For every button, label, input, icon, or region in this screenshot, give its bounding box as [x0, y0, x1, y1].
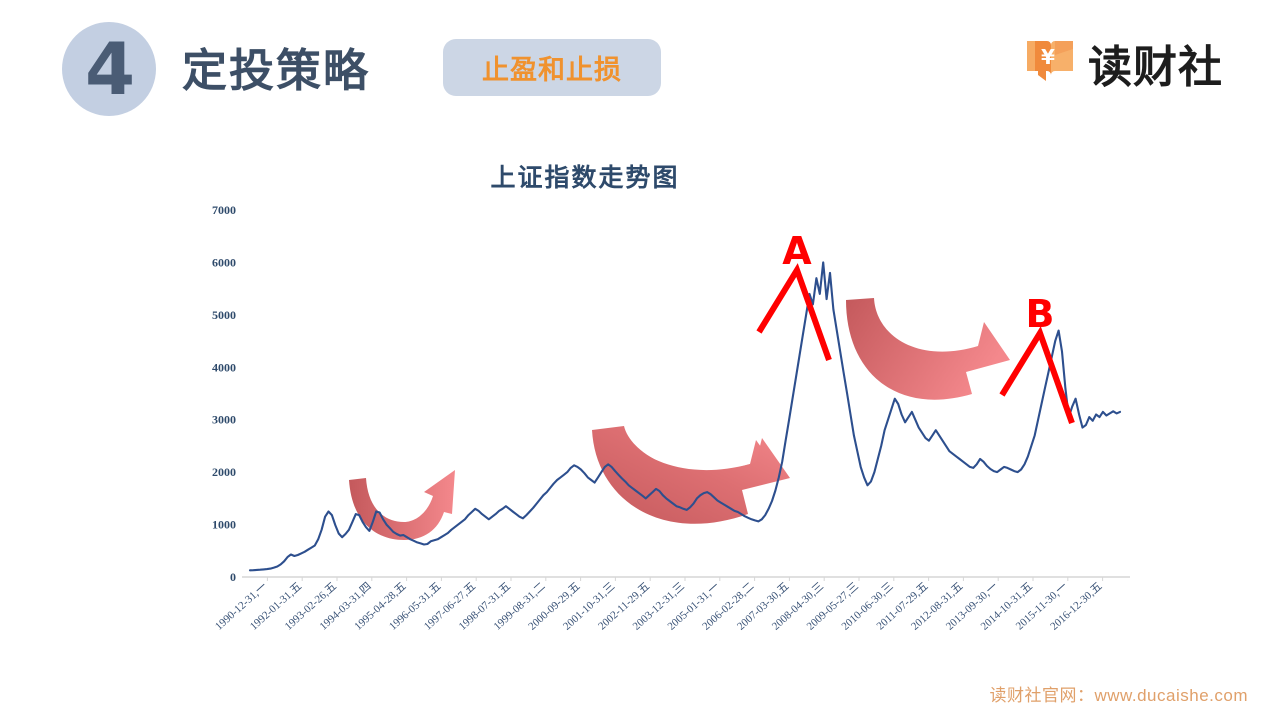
y-axis-tick: 3000	[212, 413, 236, 427]
site-footer: 读财社官网：www.ducaishe.com	[989, 681, 1248, 706]
arrow-large-center	[592, 426, 790, 524]
y-axis-tick: 5000	[212, 308, 236, 322]
stock-index-line-chart: 01000200030004000500060007000 1990-12-31…	[0, 140, 1280, 640]
peak-marker-a: A	[759, 229, 829, 360]
y-axis-tick: 6000	[212, 255, 236, 269]
book-yen-icon: ¥	[1022, 33, 1078, 89]
slide-header: 4 定投策略 止盈和止损 ¥ 读财社	[0, 0, 1280, 130]
svg-text:¥: ¥	[1041, 45, 1055, 69]
brand-logo: ¥ 读财社	[1022, 33, 1252, 91]
subtitle-pill-label: 止盈和止损	[482, 48, 622, 87]
subtitle-pill: 止盈和止损	[443, 39, 661, 96]
chart-title: 上证指数走势图	[490, 158, 679, 194]
section-number: 4	[85, 33, 133, 105]
y-axis-tick: 4000	[212, 360, 236, 374]
arrow-small-left	[349, 470, 455, 540]
x-axis: 1990-12-31,一1992-01-31,五1993-02-26,五1994…	[213, 577, 1105, 633]
y-axis-tick: 7000	[212, 203, 236, 217]
section-number-badge: 4	[62, 22, 156, 116]
brand-name: 读财社	[1088, 31, 1223, 95]
arrow-right	[846, 298, 1010, 400]
chart-title-row: 上证指数走势图	[0, 158, 1280, 194]
page-title: 定投策略	[182, 34, 370, 99]
chart-container: 上证指数走势图 01000200030004000500060007000 19…	[0, 140, 1280, 660]
peak-label-a: A	[782, 229, 812, 273]
peak-label-b: B	[1026, 292, 1055, 336]
y-axis-tick: 0	[230, 570, 236, 584]
y-axis: 01000200030004000500060007000	[212, 203, 236, 584]
y-axis-tick: 2000	[212, 465, 236, 479]
y-axis-tick: 1000	[212, 518, 236, 532]
